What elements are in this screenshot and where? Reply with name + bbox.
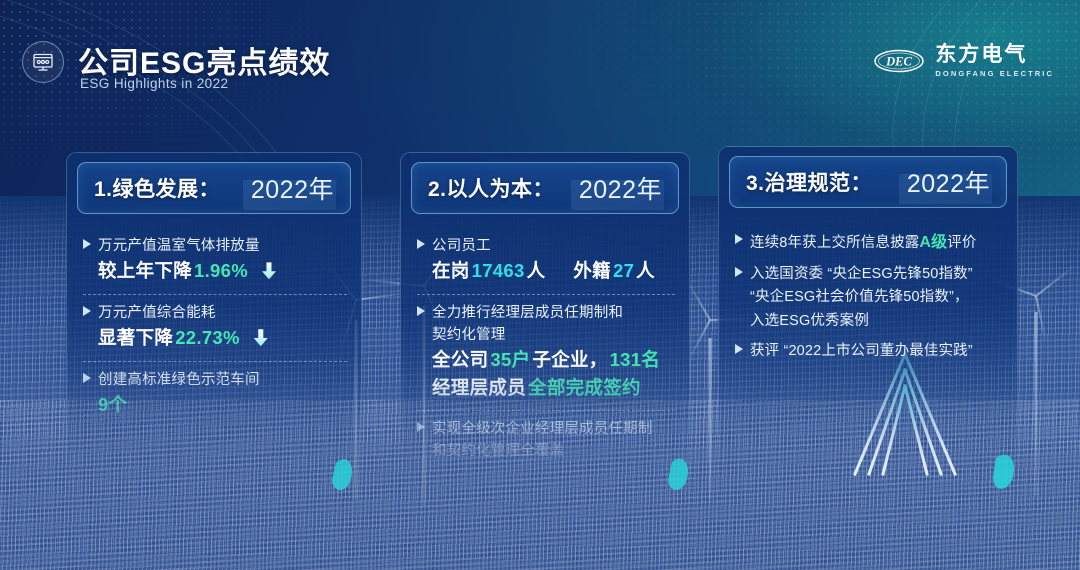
- card2-item-3-label: 实现全级次企业经理层成员任期制: [432, 418, 653, 440]
- card2-onsite-suffix: 人: [527, 257, 546, 285]
- card1-item-1-metric-prefix: 较上年下降: [98, 257, 192, 285]
- card1-item-3: 创建高标准绿色示范车间 9个: [83, 362, 347, 428]
- card2-m-l1-a: 全公司: [432, 346, 488, 374]
- card2-item-2: 全力推行经理层成员任期制和 契约化管理 全公司35户子企业，131名 经理层成员…: [417, 295, 675, 412]
- card3-item-2-cont-1: “央企ESG社会价值先锋50指数”，: [735, 286, 1003, 309]
- card2-item-3: 实现全级次企业经理层成员任期制 和契约化管理全覆盖: [417, 411, 675, 471]
- card1-item-1-metric-value: 1.96%: [194, 257, 248, 285]
- card3-title: 3.治理规范：: [746, 167, 872, 197]
- card3-item-3-text: 获评 “2022上市公司董办最佳实践”: [750, 340, 973, 363]
- chevron-right-icon: [417, 306, 425, 316]
- chevron-right-icon: [83, 239, 91, 249]
- chevron-right-icon: [83, 306, 91, 316]
- card1-item-1-metric: 较上年下降1.96%: [83, 257, 347, 285]
- card2-item-2-label2: 契约化管理: [417, 324, 675, 346]
- card3-item-1-highlight: A级: [919, 234, 947, 251]
- card-people-oriented: 2.以人为本： 2022年 公司员工 在岗17463人 外籍27人: [400, 152, 690, 482]
- card1-item-2-metric-value: 22.73%: [175, 324, 240, 352]
- card1-item-2-metric: 显著下降22.73%: [83, 324, 347, 352]
- chevron-right-icon: [735, 267, 743, 277]
- card1-item-2-metric-prefix: 显著下降: [98, 324, 173, 352]
- card1-item-1: 万元产值温室气体排放量 较上年下降1.96%: [83, 228, 347, 295]
- card2-onsite-value: 17463: [472, 257, 525, 285]
- chevron-right-icon: [417, 239, 425, 249]
- card3-item-1-text: 连续8年获上交所信息披露A级评价: [750, 230, 977, 256]
- card-governance-standards: 3.治理规范： 2022年 连续8年获上交所信息披露A级评价 入选国资委 “央企…: [718, 146, 1018, 476]
- arrow-down-icon: [254, 329, 268, 346]
- card1-title: 1.绿色发展：: [94, 173, 220, 203]
- card2-item-2-metric-line2: 经理层成员全部完成签约: [417, 374, 675, 402]
- card3-body: 连续8年获上交所信息披露A级评价 入选国资委 “央企ESG先锋50指数” “央企…: [719, 208, 1017, 367]
- card2-m-l1-d: 131名: [610, 346, 661, 374]
- card2-m-l2-a: 经理层成员: [432, 374, 526, 402]
- card2-item-1: 公司员工 在岗17463人 外籍27人: [417, 228, 675, 295]
- card3-item-1-post: 评价: [947, 235, 976, 251]
- card2-item-3-label2: 和契约化管理全覆盖: [417, 440, 675, 462]
- slide-root: 公司ESG亮点绩效 ESG Highlights in 2022 DEC 东方电…: [0, 0, 1080, 570]
- chevron-right-icon: [735, 234, 743, 244]
- card1-item-3-metric-value: 9个: [98, 391, 127, 419]
- card1-body: 万元产值温室气体排放量 较上年下降1.96% 万元产值综合能耗 显著下降22.7…: [67, 214, 361, 427]
- arrow-down-icon: [262, 262, 276, 279]
- card2-item-2-label: 全力推行经理层成员任期制和: [432, 302, 623, 324]
- card2-foreign-value: 27: [613, 257, 634, 285]
- card3-item-1-pre: 连续8年获上交所信息披露: [750, 235, 919, 251]
- card2-year: 2022年: [571, 168, 666, 208]
- card2-m-l1-c: 子企业，: [532, 346, 607, 374]
- card1-item-2-label: 万元产值综合能耗: [98, 302, 216, 324]
- card3-header: 3.治理规范： 2022年: [729, 156, 1007, 208]
- chevron-right-icon: [417, 422, 425, 432]
- card2-m-l2-b: 全部完成签约: [528, 374, 641, 402]
- card3-year: 2022年: [899, 162, 994, 202]
- card2-onsite-prefix: 在岗: [432, 257, 470, 285]
- card1-item-2: 万元产值综合能耗 显著下降22.73%: [83, 295, 347, 362]
- card1-item-3-metric: 9个: [83, 391, 347, 419]
- card1-item-3-label: 创建高标准绿色示范车间: [98, 369, 260, 391]
- chevron-right-icon: [83, 373, 91, 383]
- card1-year: 2022年: [243, 168, 338, 208]
- card2-m-l1-b: 35户: [490, 346, 530, 374]
- card2-foreign-suffix: 人: [636, 257, 655, 285]
- card1-item-1-label: 万元产值温室气体排放量: [98, 235, 260, 257]
- card2-header: 2.以人为本： 2022年: [411, 162, 679, 214]
- card2-item-1-metric: 在岗17463人 外籍27人: [417, 257, 675, 285]
- card2-item-1-label: 公司员工: [432, 235, 491, 257]
- cards-container: 1.绿色发展： 2022年 万元产值温室气体排放量 较上年下降1.96%: [0, 0, 1080, 570]
- chevron-right-icon: [735, 344, 743, 354]
- card3-item-2-cont-2: 入选ESG优秀案例: [735, 310, 1003, 333]
- card2-foreign-prefix: 外籍: [573, 257, 611, 285]
- card-green-development: 1.绿色发展： 2022年 万元产值温室气体排放量 较上年下降1.96%: [66, 152, 362, 482]
- card3-item-1: 连续8年获上交所信息披露A级评价: [735, 226, 1003, 259]
- card2-item-2-metric-line1: 全公司35户子企业，131名: [417, 346, 675, 374]
- card1-header: 1.绿色发展： 2022年: [77, 162, 351, 214]
- card2-title: 2.以人为本：: [428, 173, 554, 203]
- card3-item-2: 入选国资委 “央企ESG先锋50指数” “央企ESG社会价值先锋50指数”， 入…: [735, 259, 1003, 336]
- card2-body: 公司员工 在岗17463人 外籍27人 全力推行经理层成员任期制和 契约化管理: [401, 214, 689, 471]
- card3-item-2-text: 入选国资委 “央企ESG先锋50指数”: [750, 263, 973, 286]
- card3-item-3: 获评 “2022上市公司董办最佳实践”: [735, 336, 1003, 366]
